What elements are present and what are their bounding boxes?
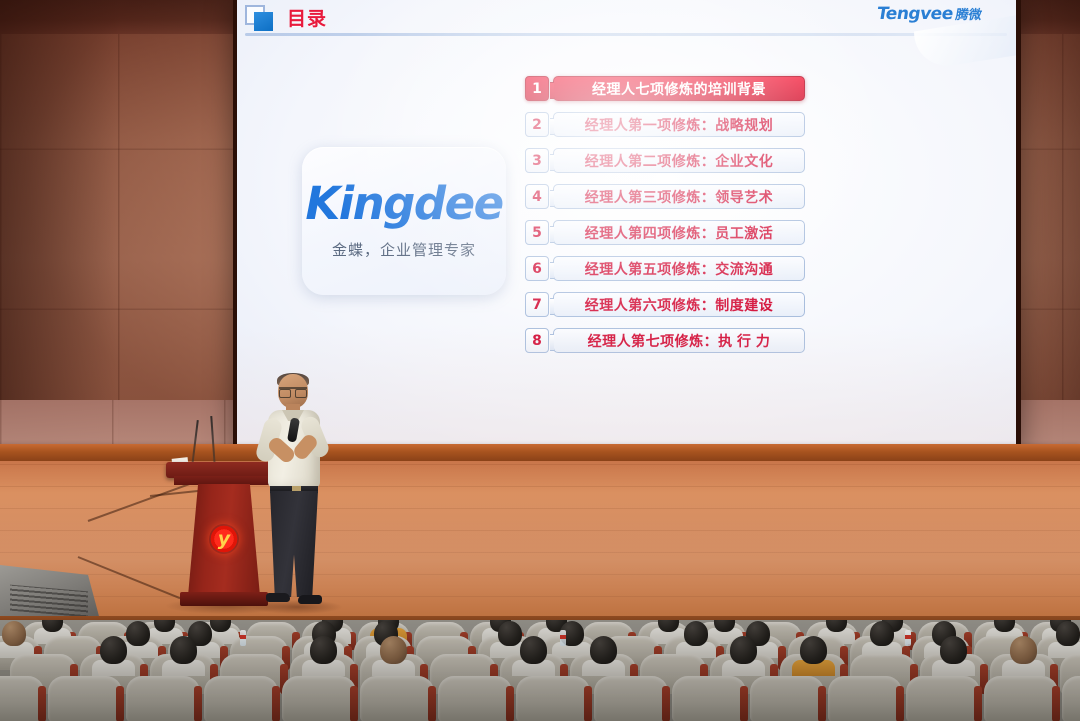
seat-side-panel: [584, 686, 592, 721]
brand-name-en: Tengvee: [876, 4, 955, 24]
header-divider: [245, 33, 1007, 36]
kingdee-logo-card: Kingdee 金蝶，企业管理专家: [302, 147, 506, 295]
audience-member-head: [126, 621, 150, 646]
audience-seat: [906, 676, 980, 721]
tengvee-logo: Tengvee 腾微: [876, 4, 984, 24]
auditorium-photo: 目录 Tengvee 腾微 Kingdee 金蝶，企业管理专家 1经理人七项修炼…: [0, 0, 1080, 721]
agenda-item-number: 1: [525, 76, 549, 101]
seat-side-panel: [896, 686, 904, 721]
agenda-item-2[interactable]: 2经理人第一项修炼：战略规划: [525, 112, 805, 137]
agenda-item-7[interactable]: 7经理人第六项修炼：制度建设: [525, 292, 805, 317]
agenda-item-label: 经理人第六项修炼：制度建设: [553, 292, 805, 317]
square-filled-shape: [254, 12, 273, 31]
agenda-item-label: 经理人第二项修炼：企业文化: [553, 148, 805, 173]
presenter-trousers: [270, 491, 318, 597]
seat-side-panel: [662, 686, 670, 721]
agenda-item-5[interactable]: 5经理人第四项修炼：员工激活: [525, 220, 805, 245]
lectern-base: [180, 592, 268, 606]
audience-seat: [828, 676, 902, 721]
audience-water-bottle: [905, 630, 911, 646]
folder-squares-icon: [245, 5, 279, 31]
agenda-item-label: 经理人第五项修炼：交流沟通: [553, 256, 805, 281]
seat-side-panel: [194, 686, 202, 721]
audience-seat: [204, 676, 278, 721]
projection-screen: 目录 Tengvee 腾微 Kingdee 金蝶，企业管理专家 1经理人七项修炼…: [237, 0, 1016, 450]
brand-name-cn: 腾微: [955, 4, 984, 23]
seat-side-panel: [350, 686, 358, 721]
seat-side-panel: [974, 686, 982, 721]
audience-water-bottle: [240, 630, 246, 646]
audience-seat: [594, 676, 668, 721]
agenda-item-number: 6: [525, 256, 549, 281]
audience-seat: [750, 676, 824, 721]
audience-member-head: [498, 621, 522, 646]
slide-title: 目录: [287, 4, 327, 31]
agenda-item-3[interactable]: 3经理人第二项修炼：企业文化: [525, 148, 805, 173]
audience-member-head: [940, 636, 967, 664]
audience-seat: [126, 676, 200, 721]
stage-floor-reflection: [0, 461, 1080, 641]
agenda-list: 1经理人七项修炼的培训背景2经理人第一项修炼：战略规划3经理人第二项修炼：企业文…: [525, 76, 805, 364]
audience-member-head: [1056, 621, 1080, 646]
audience-member-head: [730, 636, 757, 664]
agenda-item-label: 经理人第一项修炼：战略规划: [553, 112, 805, 137]
presenter-right-shoe: [298, 595, 322, 604]
audience-member-head: [310, 636, 337, 664]
agenda-item-number: 5: [525, 220, 549, 245]
agenda-item-number: 2: [525, 112, 549, 137]
audience-member-head: [380, 636, 407, 664]
agenda-item-number: 7: [525, 292, 549, 317]
agenda-item-number: 4: [525, 184, 549, 209]
slide-header: 目录 Tengvee 腾微: [237, 0, 1016, 36]
audience-member-head: [170, 636, 197, 664]
kingdee-wordmark: Kingdee: [302, 177, 506, 230]
agenda-item-6[interactable]: 6经理人第五项修炼：交流沟通: [525, 256, 805, 281]
stage-back-rail: [0, 444, 1080, 461]
seat-side-panel: [818, 686, 826, 721]
lectern-emblem-letter: y: [209, 524, 239, 554]
audience-member-head: [870, 621, 894, 646]
audience-seat: [360, 676, 434, 721]
audience-seat: [516, 676, 590, 721]
presenter-left-shoe: [266, 593, 290, 602]
presenter-glasses: [279, 387, 307, 394]
audience-seat: [984, 676, 1058, 721]
agenda-item-label: 经理人第四项修炼：员工激活: [553, 220, 805, 245]
audience-seating: [0, 620, 1080, 721]
audience-member-head: [684, 621, 708, 646]
seat-side-panel: [1052, 686, 1060, 721]
audience-member-head: [590, 636, 617, 664]
seat-side-panel: [116, 686, 124, 721]
seat-side-panel: [38, 686, 46, 721]
agenda-item-8[interactable]: 8经理人第七项修炼：执 行 力: [525, 328, 805, 353]
audience-seat: [672, 676, 746, 721]
agenda-item-label: 经理人第三项修炼：领导艺术: [553, 184, 805, 209]
lectern-emblem: y: [209, 524, 239, 554]
agenda-item-number: 3: [525, 148, 549, 173]
audience-seat: [48, 676, 122, 721]
audience-seat: [1062, 676, 1080, 721]
agenda-item-label: 经理人七项修炼的培训背景: [553, 76, 805, 101]
presenter: [258, 374, 330, 614]
kingdee-tagline: 金蝶，企业管理专家: [302, 239, 506, 260]
audience-seat: [438, 676, 512, 721]
audience-water-bottle: [560, 630, 566, 646]
agenda-item-label: 经理人第七项修炼：执 行 力: [553, 328, 805, 353]
audience-member-head: [520, 636, 547, 664]
agenda-item-number: 8: [525, 328, 549, 353]
audience-member-head: [1010, 636, 1037, 664]
agenda-item-4[interactable]: 4经理人第三项修炼：领导艺术: [525, 184, 805, 209]
audience-member-head: [100, 636, 127, 664]
audience-seat: [282, 676, 356, 721]
audience-member-head: [800, 636, 827, 664]
seat-side-panel: [428, 686, 436, 721]
seat-side-panel: [272, 686, 280, 721]
seat-side-panel: [740, 686, 748, 721]
agenda-item-1[interactable]: 1经理人七项修炼的培训背景: [525, 76, 805, 101]
seat-side-panel: [506, 686, 514, 721]
audience-member-head: [2, 621, 26, 646]
